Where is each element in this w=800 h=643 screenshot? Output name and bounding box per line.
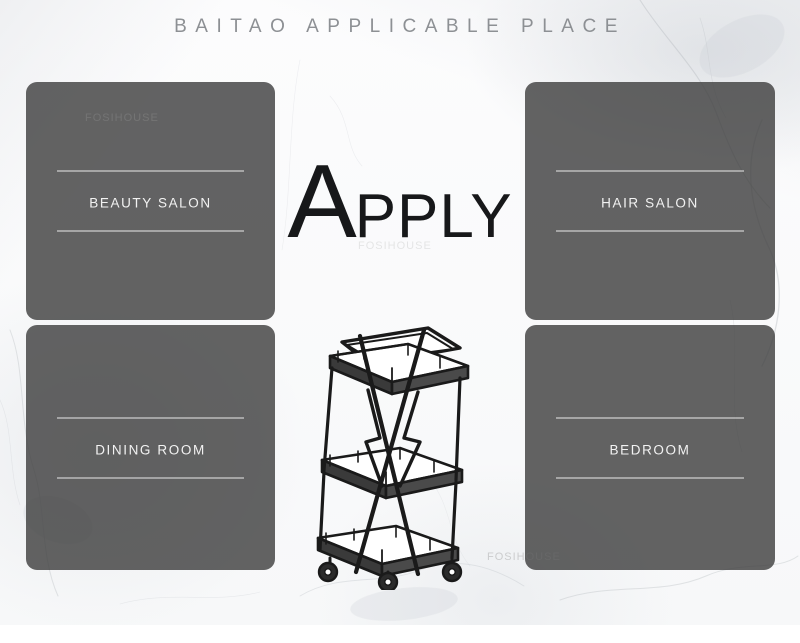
panel-hair-salon[interactable]: HAIR SALON — [525, 82, 775, 320]
trolley-cart-illustration — [300, 310, 510, 590]
panel-hair-salon-content: HAIR SALON — [525, 171, 775, 232]
panel-bedroom-content: BEDROOM — [525, 417, 775, 478]
apply-headline-rest: PPLY — [355, 182, 513, 251]
panel-bedroom[interactable]: BEDROOM — [525, 325, 775, 570]
divider-bottom — [556, 477, 744, 478]
page-title: BAITAO APPLICABLE PLACE — [0, 16, 800, 38]
panel-dining-room[interactable]: DINING ROOM — [26, 325, 275, 570]
product-feature-image: BAITAO APPLICABLE PLACE APPLY FOSIHOUSE — [0, 0, 800, 643]
apply-headline-capital: A — [287, 144, 354, 260]
divider-bottom — [57, 477, 244, 478]
divider-bottom — [57, 231, 244, 232]
panel-label-dining-room: DINING ROOM — [57, 418, 244, 477]
panel-label-bedroom: BEDROOM — [556, 418, 744, 477]
apply-headline: APPLY — [281, 150, 519, 254]
bottom-white-strip — [0, 625, 800, 643]
divider-bottom — [556, 231, 744, 232]
panel-dining-room-content: DINING ROOM — [26, 417, 275, 478]
panel-label-hair-salon: HAIR SALON — [556, 172, 744, 231]
panel-beauty-salon[interactable]: BEAUTY SALON — [26, 82, 275, 320]
panel-beauty-salon-content: BEAUTY SALON — [26, 171, 275, 232]
panel-label-beauty-salon: BEAUTY SALON — [57, 172, 244, 231]
